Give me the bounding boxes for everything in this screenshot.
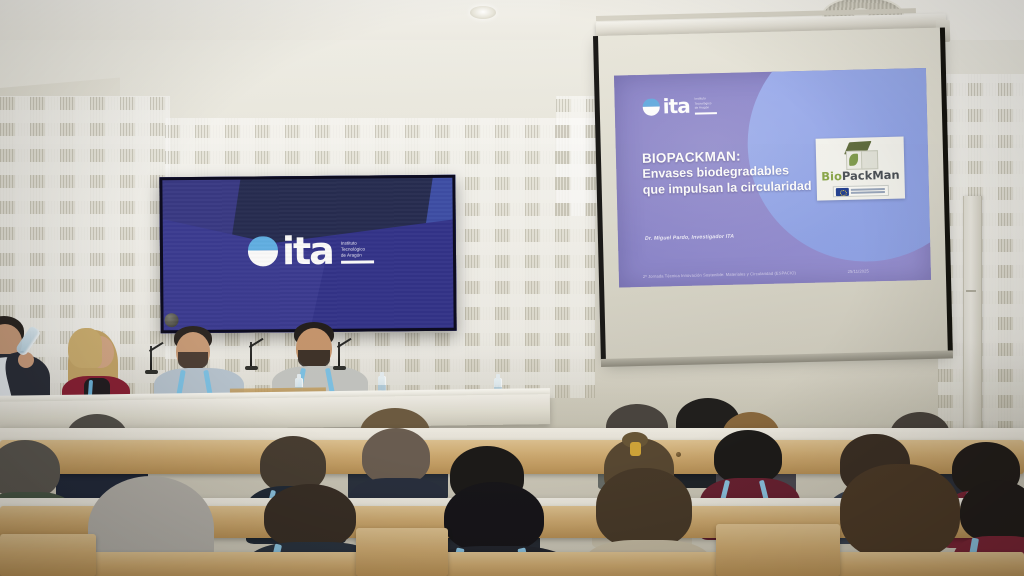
audience-bench-row-1-mid xyxy=(356,528,448,576)
biopackman-logo-card: BioPackMan xyxy=(816,137,905,201)
hair xyxy=(0,440,60,498)
hair xyxy=(362,428,430,484)
eu-flag-icon xyxy=(836,187,849,195)
hair-clip-icon xyxy=(630,442,641,456)
slide-ita-subtitle-line-3: de Aragón xyxy=(695,106,717,110)
hair xyxy=(714,430,782,484)
wall-panel-strip-mark xyxy=(966,290,976,292)
projected-slide: ita Instituto Tecnológico de Aragón BIOP… xyxy=(614,68,931,288)
monitor-ita-subtitle: Instituto Tecnológico de Aragón xyxy=(341,240,374,263)
biopackman-bio-text: Bio xyxy=(821,169,842,183)
projector-screen: ita Instituto Tecnológico de Aragón BIOP… xyxy=(597,28,949,360)
monitor-ita-underline xyxy=(341,260,374,263)
slide-footer-date: 25/11/2025 xyxy=(848,268,869,274)
hair xyxy=(264,484,356,548)
monitor-subtitle-line-3: de Aragón xyxy=(341,252,374,258)
ita-drop-icon xyxy=(643,98,660,115)
downlight-icon xyxy=(470,6,496,19)
monitor-ita-wordmark: ita xyxy=(282,232,333,270)
monitor-ita-logo: ita Instituto Tecnológico de Aragón xyxy=(248,231,374,270)
slide-ita-logo: ita Instituto Tecnológico de Aragón xyxy=(643,95,717,117)
wall-monitor: ita Instituto Tecnológico de Aragón xyxy=(159,175,456,334)
slide-footer: 2ª Jornada Técnica Innovación Sostenible… xyxy=(619,267,931,280)
hair xyxy=(840,464,960,560)
eu-funding-badge xyxy=(833,185,889,197)
slide-footer-event: 2ª Jornada Técnica Innovación Sostenible… xyxy=(643,270,796,279)
panelist-2-hair-front xyxy=(68,328,102,368)
audience-bench-row-1-right xyxy=(716,524,840,576)
slide-ita-wordmark: ita xyxy=(662,96,689,117)
conference-room-photo: ita Instituto Tecnológico de Aragón BIOP… xyxy=(0,0,1024,576)
eu-badge-text xyxy=(851,188,885,193)
biopackman-wordmark: BioPackMan xyxy=(816,170,904,184)
audience-bench-row-1-left xyxy=(0,534,96,576)
slide-ita-underline xyxy=(695,112,717,115)
audience-bench-row-1 xyxy=(0,552,1024,576)
ita-drop-icon xyxy=(248,236,278,266)
package-cube-icon xyxy=(844,140,879,171)
slide-author: Dr. Miguel Pardo, Investigador ITA xyxy=(645,234,734,242)
slide-title: BIOPACKMAN: Envases biodegradables que i… xyxy=(642,146,833,198)
biopackman-packman-text: PackMan xyxy=(842,168,900,183)
hair xyxy=(960,480,1024,542)
hair xyxy=(444,482,544,552)
slide-ita-subtitle: Instituto Tecnológico de Aragón xyxy=(694,97,716,115)
hair xyxy=(596,468,692,548)
